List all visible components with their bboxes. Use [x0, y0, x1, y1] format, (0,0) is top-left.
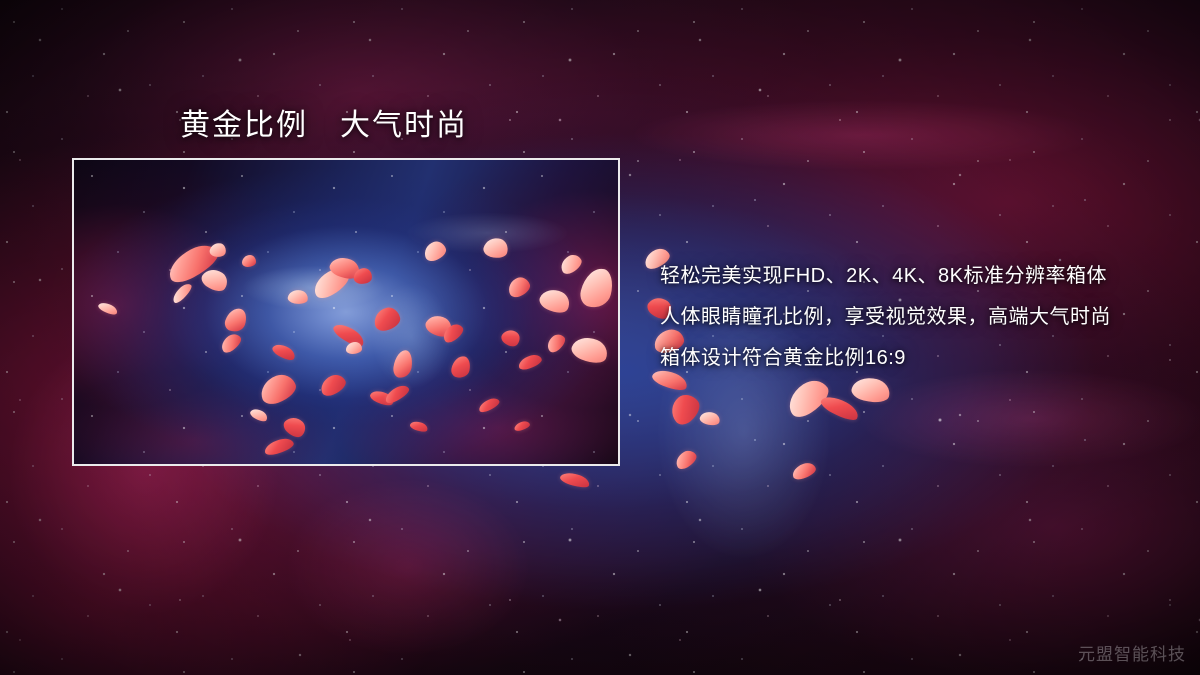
body-line-1: 轻松完美实现FHD、2K、4K、8K标准分辨率箱体	[660, 256, 1180, 297]
framed-image	[72, 158, 620, 466]
framed-image-starfield	[74, 160, 618, 464]
page-title: 黄金比例 大气时尚	[180, 100, 468, 144]
slide-root: 黄金比例 大气时尚 轻松完美实现FHD、2K、4K、8K标准分辨率箱体 人体眼睛…	[0, 0, 1200, 675]
body-text-block: 轻松完美实现FHD、2K、4K、8K标准分辨率箱体 人体眼睛瞳孔比例，享受视觉效…	[660, 256, 1180, 379]
framed-image-photo	[74, 160, 618, 464]
body-line-2: 人体眼睛瞳孔比例，享受视觉效果，高端大气时尚	[660, 297, 1180, 338]
petal	[346, 342, 362, 354]
body-line-3: 箱体设计符合黄金比例16:9	[660, 338, 1180, 379]
petal	[242, 255, 256, 267]
watermark: 元盟智能科技	[1078, 640, 1186, 665]
